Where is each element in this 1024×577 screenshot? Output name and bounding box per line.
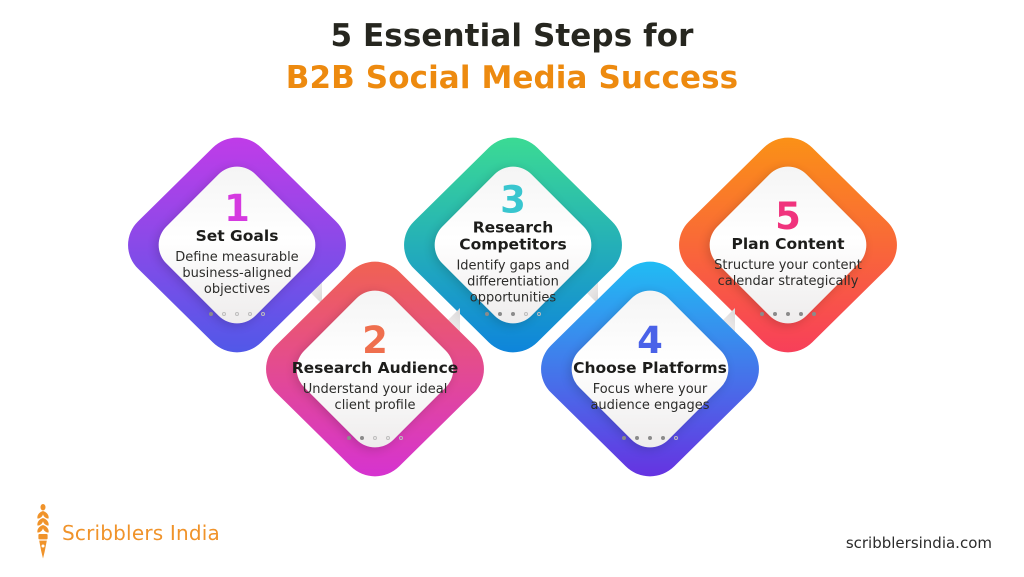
progress-dot <box>209 312 213 316</box>
progress-dot <box>235 312 239 316</box>
progress-dot <box>674 436 678 440</box>
progress-dot <box>511 312 515 316</box>
brand-logo: Scribblers India <box>30 503 220 563</box>
website-url[interactable]: scribblersindia.com <box>846 534 992 552</box>
card-inner-panel <box>525 246 775 492</box>
progress-dot <box>635 436 639 440</box>
progress-dot <box>661 436 665 440</box>
progress-dot <box>799 312 803 316</box>
brand-name: Scribblers India <box>62 521 220 545</box>
progress-dot <box>622 436 626 440</box>
progress-dot <box>399 436 403 440</box>
progress-dot <box>222 312 226 316</box>
progress-dot <box>786 312 790 316</box>
progress-dot <box>347 436 351 440</box>
step-progress-dots <box>622 436 678 440</box>
steps-diagram: 1Set GoalsDefine measurable business-ali… <box>0 0 1024 577</box>
step-progress-dots <box>347 436 403 440</box>
step-card-4[interactable]: 4Choose PlatformsFocus where your audien… <box>525 246 775 492</box>
progress-dot <box>373 436 377 440</box>
step-card-2[interactable]: 2Research AudienceUnderstand your ideal … <box>250 246 500 492</box>
progress-dot <box>648 436 652 440</box>
card-inner-panel <box>250 246 500 492</box>
progress-dot <box>812 312 816 316</box>
progress-dot <box>386 436 390 440</box>
wheat-quill-pen-icon <box>30 503 56 563</box>
progress-dot <box>360 436 364 440</box>
